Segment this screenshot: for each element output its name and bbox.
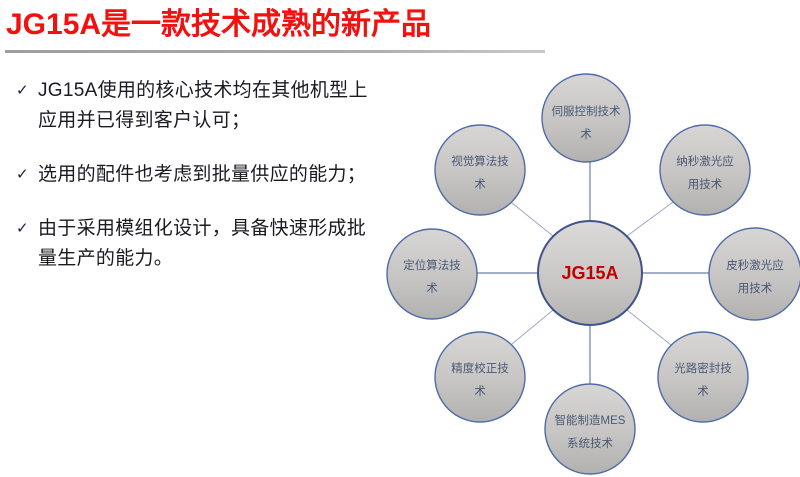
node-label-line-2: 用技术: [738, 282, 773, 295]
checkmark-icon: ✓: [10, 160, 38, 190]
node-label-line-2: 用技术: [688, 178, 723, 191]
checkmark-icon: ✓: [10, 76, 38, 106]
node-mes[interactable]: 智能制造MES 系统技术: [545, 384, 635, 474]
node-label-line-2: 术: [474, 385, 486, 398]
node-label-line-1: 定位算法技: [403, 258, 461, 272]
node-label-line-1: 光路密封技: [674, 361, 732, 375]
node-vision[interactable]: 视觉算法技 术: [435, 125, 525, 215]
node-circle: [435, 332, 525, 422]
node-label-line-2: 术: [426, 282, 438, 295]
node-label-line-1: 精度校正技: [451, 361, 509, 375]
node-position[interactable]: 定位算法技 术: [387, 229, 477, 319]
node-label-line-2: 术: [474, 178, 486, 191]
slide-canvas: JG15A是一款技术成熟的新产品 ✓ JG15A使用的核心技术均在其他机型上应用…: [0, 0, 800, 477]
node-label-line-2: 术: [580, 128, 592, 141]
node-circle: [387, 229, 477, 319]
node-label-line-2: 术: [697, 385, 709, 398]
list-item-label: 由于采用模组化设计，具备快速形成批量生产的能力。: [38, 214, 380, 274]
list-item: ✓ JG15A使用的核心技术均在其他机型上应用并已得到客户认可；: [10, 76, 380, 136]
node-hub[interactable]: JG15A: [538, 221, 642, 325]
node-optical[interactable]: 光路密封技 术: [658, 332, 748, 422]
node-circle: [660, 125, 750, 215]
bullet-list: ✓ JG15A使用的核心技术均在其他机型上应用并已得到客户认可； ✓ 选用的配件…: [10, 76, 380, 298]
node-label-line-1: 智能制造MES: [555, 413, 626, 427]
list-item: ✓ 选用的配件也考虑到批量供应的能力；: [10, 160, 380, 190]
list-item-label: 选用的配件也考虑到批量供应的能力；: [38, 160, 380, 190]
node-circle: [658, 332, 748, 422]
radial-hub-diagram: 伺服控制技术 术 纳秒激光应 用技术 皮秒激光应 用技术 光路密封技 术 智能制: [350, 50, 800, 477]
node-label-line-2: 系统技术: [567, 437, 613, 450]
node-label-line-1: 皮秒激光应: [726, 258, 784, 272]
diagram-svg: 伺服控制技术 术 纳秒激光应 用技术 皮秒激光应 用技术 光路密封技 术 智能制: [350, 50, 800, 477]
node-nano[interactable]: 纳秒激光应 用技术: [660, 125, 750, 215]
node-circle: [709, 228, 800, 320]
node-servo[interactable]: 伺服控制技术 术: [542, 74, 630, 162]
list-item-label: JG15A使用的核心技术均在其他机型上应用并已得到客户认可；: [38, 76, 380, 136]
connector-hub-accuracy: [512, 310, 553, 344]
node-label-line-1: 伺服控制技术: [552, 104, 621, 118]
node-circle: [545, 384, 635, 474]
node-label-line-1: 视觉算法技: [451, 154, 509, 168]
node-circle: [435, 125, 525, 215]
checkmark-icon: ✓: [10, 214, 38, 244]
node-pico[interactable]: 皮秒激光应 用技术: [709, 228, 800, 320]
list-item: ✓ 由于采用模组化设计，具备快速形成批量生产的能力。: [10, 214, 380, 274]
connector-hub-nano: [627, 202, 673, 236]
connector-hub-vision: [512, 203, 553, 236]
connector-hub-optical: [627, 310, 671, 345]
hub-label: JG15A: [561, 263, 618, 283]
node-accuracy[interactable]: 精度校正技 术: [435, 332, 525, 422]
node-label-line-1: 纳秒激光应: [676, 154, 734, 168]
page-title: JG15A是一款技术成熟的新产品: [6, 4, 566, 48]
